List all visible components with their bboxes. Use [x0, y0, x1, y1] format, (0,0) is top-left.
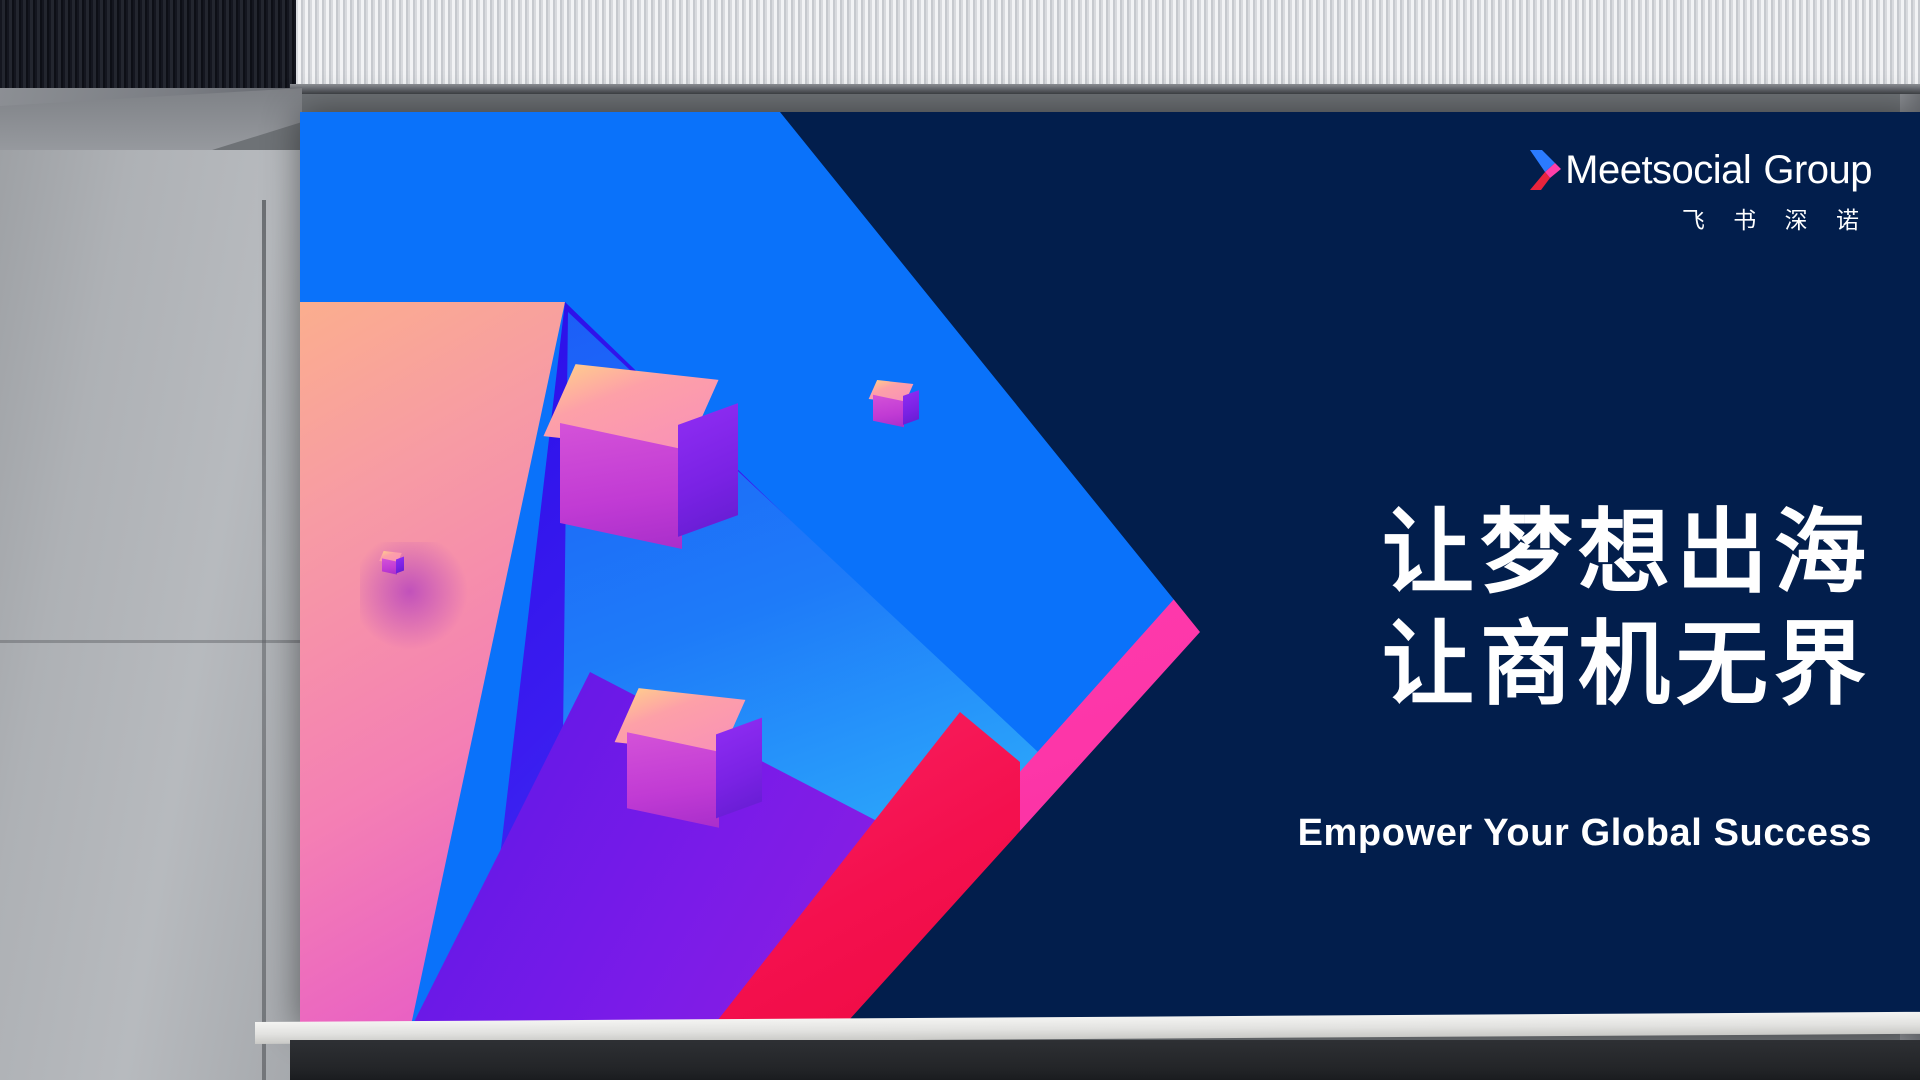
tagline: Empower Your Global Success	[1298, 812, 1872, 855]
brand-logo: MeetsocialGroup 飞 书 深 诺	[1528, 148, 1872, 235]
billboard-plinth	[290, 1040, 1920, 1080]
logo-row: MeetsocialGroup	[1528, 148, 1872, 192]
cube-face-side	[678, 403, 738, 537]
logo-wordmark-suffix: Group	[1763, 148, 1872, 192]
logo-chinese-name: 飞 书 深 诺	[1682, 201, 1872, 235]
cube-face-side	[396, 557, 404, 574]
wall-seam-secondary	[0, 640, 300, 643]
cube-face-side	[716, 718, 762, 819]
ceiling-rail	[290, 84, 1920, 94]
meetsocial-chevron-mark-icon	[1528, 148, 1562, 192]
headline-line-2: 让商机无界	[1382, 609, 1872, 721]
ribbed-ceiling-light	[296, 0, 1920, 84]
ribbed-ceiling-dark	[0, 0, 296, 88]
cube-large	[548, 372, 733, 547]
cube-shadow	[360, 542, 470, 652]
logo-wordmark: MeetsocialGroup	[1565, 150, 1872, 190]
abstract-geometric-cubes-artwork	[300, 112, 1200, 1030]
interior-wall	[0, 150, 300, 1080]
headline-line-1: 让梦想出海	[1382, 497, 1872, 609]
cube-small	[870, 382, 918, 428]
cube-face-front	[382, 558, 397, 574]
billboard-content: MeetsocialGroup 飞 书 深 诺 让梦想出海 让商机无界 Empo…	[1200, 112, 1920, 1030]
headline: 让梦想出海 让商机无界	[1382, 497, 1872, 721]
cube-face-side	[903, 390, 919, 425]
cube-micro	[380, 552, 404, 575]
billboard-scene: MeetsocialGroup 飞 书 深 诺 让梦想出海 让商机无界 Empo…	[0, 0, 1920, 1080]
cube-medium	[618, 694, 758, 829]
cube-face-front	[873, 395, 904, 428]
logo-wordmark-main: Meetsocial	[1565, 148, 1751, 192]
billboard-panel: MeetsocialGroup 飞 书 深 诺 让梦想出海 让商机无界 Empo…	[300, 112, 1920, 1030]
